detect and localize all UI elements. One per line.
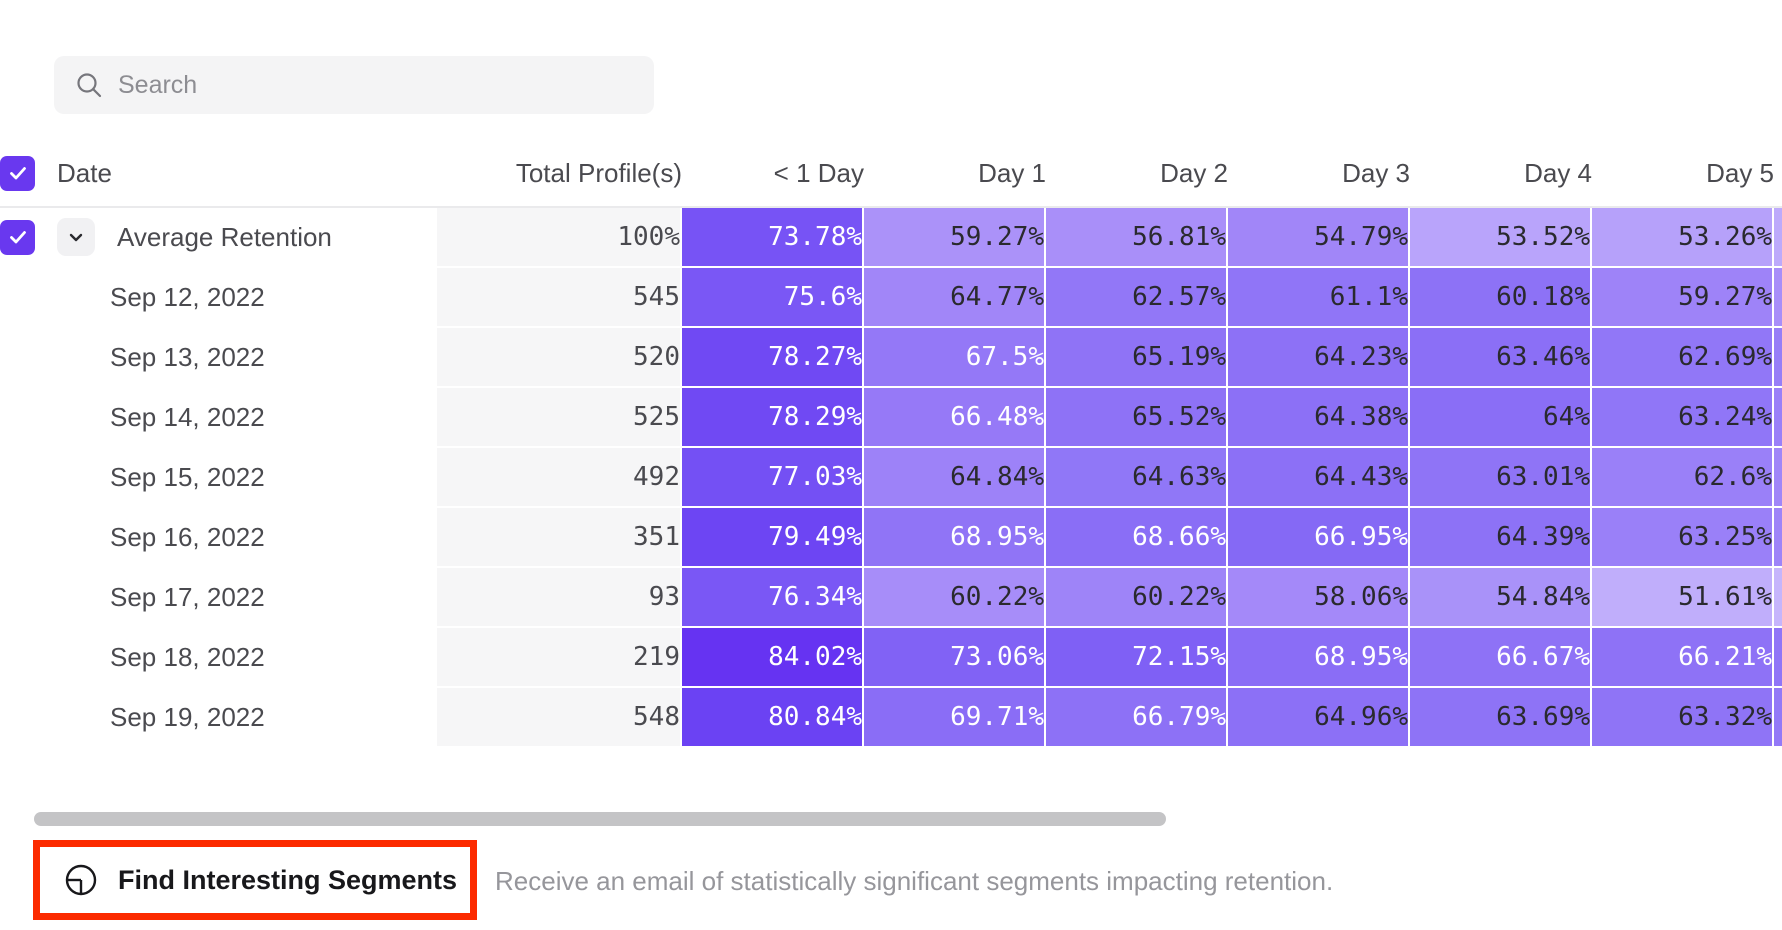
cell-retention: 58.3% xyxy=(1774,268,1782,328)
cell-retention: 61.5% xyxy=(1774,448,1782,508)
cell-retention: 64.77% xyxy=(864,268,1046,328)
row-label: Sep 12, 2022 xyxy=(110,282,265,313)
cell-retention: 64.96% xyxy=(1228,688,1410,748)
cell-total-profiles: 93 xyxy=(437,568,682,628)
table-row[interactable]: Sep 16, 202235179.49%68.95%68.66%66.95%6… xyxy=(0,508,1782,568)
table-row[interactable]: Sep 17, 20229376.34%60.22%60.22%58.06%54… xyxy=(0,568,1782,628)
retention-table: Date Total Profile(s) < 1 Day Day 1 Day … xyxy=(0,140,1782,748)
search-icon xyxy=(74,70,104,100)
cell-retention: 62.5% xyxy=(1774,688,1782,748)
chevron-down-icon[interactable] xyxy=(57,218,95,256)
cell-retention: 62.6% xyxy=(1592,448,1774,508)
cell-retention: 63.32% xyxy=(1592,688,1774,748)
cell-retention: 54.84% xyxy=(1410,568,1592,628)
horizontal-scrollbar-thumb[interactable] xyxy=(34,812,1166,826)
table-row[interactable]: Sep 18, 202221984.02%73.06%72.15%68.95%6… xyxy=(0,628,1782,688)
row-checkbox[interactable] xyxy=(0,220,35,255)
column-header-total-profiles-label: Total Profile(s) xyxy=(516,158,682,188)
column-header-day-6-partial[interactable] xyxy=(1774,140,1782,208)
cell-retention: 63.25% xyxy=(1592,508,1774,568)
cell-retention: 65.3% xyxy=(1774,628,1782,688)
cell-retention: 64% xyxy=(1410,388,1592,448)
cell-retention: 64.38% xyxy=(1228,388,1410,448)
table-header: Date Total Profile(s) < 1 Day Day 1 Day … xyxy=(0,140,1782,208)
find-interesting-segments-description: Receive an email of statistically signif… xyxy=(495,866,1333,897)
row-label-cell[interactable]: Sep 14, 2022 xyxy=(0,388,437,448)
header-row: Date Total Profile(s) < 1 Day Day 1 Day … xyxy=(0,140,1782,208)
cell-retention: 66.48% xyxy=(864,388,1046,448)
cell-retention: 67.5% xyxy=(864,328,1046,388)
column-header-day-1[interactable]: Day 1 xyxy=(864,140,1046,208)
row-label: Average Retention xyxy=(117,222,332,253)
column-header-lt-1-day[interactable]: < 1 Day xyxy=(682,140,864,208)
cell-retention: 59.27% xyxy=(1592,268,1774,328)
cell-retention: 60.18% xyxy=(1410,268,1592,328)
column-header-day-2-label: Day 2 xyxy=(1160,158,1228,188)
table-footer: Find Interesting Segments Receive an ema… xyxy=(0,840,1782,930)
cell-retention: 65.52% xyxy=(1046,388,1228,448)
cell-retention: 60.22% xyxy=(1046,568,1228,628)
cell-total-profiles: 100% xyxy=(437,208,682,268)
row-label-cell[interactable]: Sep 19, 2022 xyxy=(0,688,437,748)
row-label: Sep 16, 2022 xyxy=(110,522,265,553)
row-label-cell[interactable]: Sep 17, 2022 xyxy=(0,568,437,628)
cell-retention: 64.43% xyxy=(1228,448,1410,508)
retention-table-scroll-area[interactable]: Date Total Profile(s) < 1 Day Day 1 Day … xyxy=(0,140,1782,810)
cell-retention: 51.61% xyxy=(1592,568,1774,628)
find-interesting-segments-label: Find Interesting Segments xyxy=(118,865,457,896)
cell-retention: 62.69% xyxy=(1592,328,1774,388)
cell-retention: 64.63% xyxy=(1046,448,1228,508)
cell-retention: 84.02% xyxy=(682,628,864,688)
row-label: Sep 13, 2022 xyxy=(110,342,265,373)
search-box[interactable] xyxy=(54,56,654,114)
cell-total-profiles: 545 xyxy=(437,268,682,328)
column-header-date-label: Date xyxy=(57,158,112,189)
column-header-day-4[interactable]: Day 4 xyxy=(1410,140,1592,208)
find-interesting-segments-button[interactable]: Find Interesting Segments xyxy=(40,861,457,899)
row-label: Sep 15, 2022 xyxy=(110,462,265,493)
cell-retention: 62.4% xyxy=(1774,388,1782,448)
cell-retention: 79.49% xyxy=(682,508,864,568)
cell-retention: 58.06% xyxy=(1228,568,1410,628)
cell-retention: 63.69% xyxy=(1410,688,1592,748)
cell-retention: 53.52% xyxy=(1410,208,1592,268)
column-header-day-5[interactable]: Day 5 xyxy=(1592,140,1774,208)
cell-retention: 68.66% xyxy=(1046,508,1228,568)
select-all-checkbox[interactable] xyxy=(0,156,35,191)
cell-total-profiles: 548 xyxy=(437,688,682,748)
table-row[interactable]: Sep 12, 202254575.6%64.77%62.57%61.1%60.… xyxy=(0,268,1782,328)
cell-retention: 63.46% xyxy=(1410,328,1592,388)
cell-retention: 64.39% xyxy=(1410,508,1592,568)
search-input[interactable] xyxy=(118,56,634,114)
table-row[interactable]: Sep 15, 202249277.03%64.84%64.63%64.43%6… xyxy=(0,448,1782,508)
cell-total-profiles: 219 xyxy=(437,628,682,688)
retention-table-panel: Date Total Profile(s) < 1 Day Day 1 Day … xyxy=(0,0,1782,930)
cell-retention: 50.5% xyxy=(1774,568,1782,628)
cell-retention: 76.34% xyxy=(682,568,864,628)
cell-retention: 64.84% xyxy=(864,448,1046,508)
segments-icon xyxy=(62,861,100,899)
cell-retention: 78.29% xyxy=(682,388,864,448)
column-header-total-profiles[interactable]: Total Profile(s) xyxy=(437,140,682,208)
column-header-date[interactable]: Date xyxy=(0,140,437,208)
cell-retention: 68.95% xyxy=(1228,628,1410,688)
cell-retention: 66.67% xyxy=(1410,628,1592,688)
cell-retention: 64.23% xyxy=(1228,328,1410,388)
row-label-cell[interactable]: Sep 13, 2022 xyxy=(0,328,437,388)
cell-retention: 56.81% xyxy=(1046,208,1228,268)
row-label: Sep 14, 2022 xyxy=(110,402,265,433)
cell-retention: 63.24% xyxy=(1592,388,1774,448)
cell-total-profiles: 525 xyxy=(437,388,682,448)
cell-retention: 60.22% xyxy=(864,568,1046,628)
cell-total-profiles: 351 xyxy=(437,508,682,568)
column-header-lt-1-day-label: < 1 Day xyxy=(774,158,864,188)
row-label-cell-summary[interactable]: Average Retention xyxy=(0,208,437,268)
cell-retention: 59.27% xyxy=(864,208,1046,268)
cell-retention: 69.71% xyxy=(864,688,1046,748)
column-header-day-4-label: Day 4 xyxy=(1524,158,1592,188)
column-header-day-5-label: Day 5 xyxy=(1706,158,1774,188)
row-label: Sep 19, 2022 xyxy=(110,702,265,733)
cell-retention: 72.15% xyxy=(1046,628,1228,688)
row-label-cell[interactable]: Sep 16, 2022 xyxy=(0,508,437,568)
cell-retention: 78.27% xyxy=(682,328,864,388)
cell-retention: 62.8% xyxy=(1774,508,1782,568)
table-row[interactable]: Sep 19, 202254880.84%69.71%66.79%64.96%6… xyxy=(0,688,1782,748)
cell-retention: 68.95% xyxy=(864,508,1046,568)
cell-retention: 80.84% xyxy=(682,688,864,748)
column-header-day-1-label: Day 1 xyxy=(978,158,1046,188)
cell-retention: 66.79% xyxy=(1046,688,1228,748)
table-row[interactable]: Sep 14, 202252578.29%66.48%65.52%64.38%6… xyxy=(0,388,1782,448)
table-row[interactable]: Average Retention100%73.78%59.27%56.81%5… xyxy=(0,208,1782,268)
row-label-cell[interactable]: Sep 15, 2022 xyxy=(0,448,437,508)
table-body: Average Retention100%73.78%59.27%56.81%5… xyxy=(0,208,1782,748)
cell-retention: 77.03% xyxy=(682,448,864,508)
cell-retention: 63.01% xyxy=(1410,448,1592,508)
cell-retention: 65.19% xyxy=(1046,328,1228,388)
cell-retention: 53.26% xyxy=(1592,208,1774,268)
cell-retention: 61.7% xyxy=(1774,328,1782,388)
column-header-day-3[interactable]: Day 3 xyxy=(1228,140,1410,208)
cell-retention: 61.1% xyxy=(1228,268,1410,328)
row-label-cell[interactable]: Sep 18, 2022 xyxy=(0,628,437,688)
cell-total-profiles: 520 xyxy=(437,328,682,388)
cell-retention: 73.06% xyxy=(864,628,1046,688)
cell-retention: 54.79% xyxy=(1228,208,1410,268)
row-label: Sep 18, 2022 xyxy=(110,642,265,673)
cell-retention: 75.6% xyxy=(682,268,864,328)
find-interesting-segments-highlight: Find Interesting Segments xyxy=(33,840,477,920)
cell-retention: 62.57% xyxy=(1046,268,1228,328)
cell-retention: 52.1% xyxy=(1774,208,1782,268)
row-label: Sep 17, 2022 xyxy=(110,582,265,613)
table-row[interactable]: Sep 13, 202252078.27%67.5%65.19%64.23%63… xyxy=(0,328,1782,388)
cell-retention: 66.95% xyxy=(1228,508,1410,568)
column-header-day-2[interactable]: Day 2 xyxy=(1046,140,1228,208)
row-label-cell[interactable]: Sep 12, 2022 xyxy=(0,268,437,328)
cell-total-profiles: 492 xyxy=(437,448,682,508)
cell-retention: 73.78% xyxy=(682,208,864,268)
cell-retention: 66.21% xyxy=(1592,628,1774,688)
horizontal-scrollbar[interactable] xyxy=(34,812,1782,826)
column-header-day-3-label: Day 3 xyxy=(1342,158,1410,188)
